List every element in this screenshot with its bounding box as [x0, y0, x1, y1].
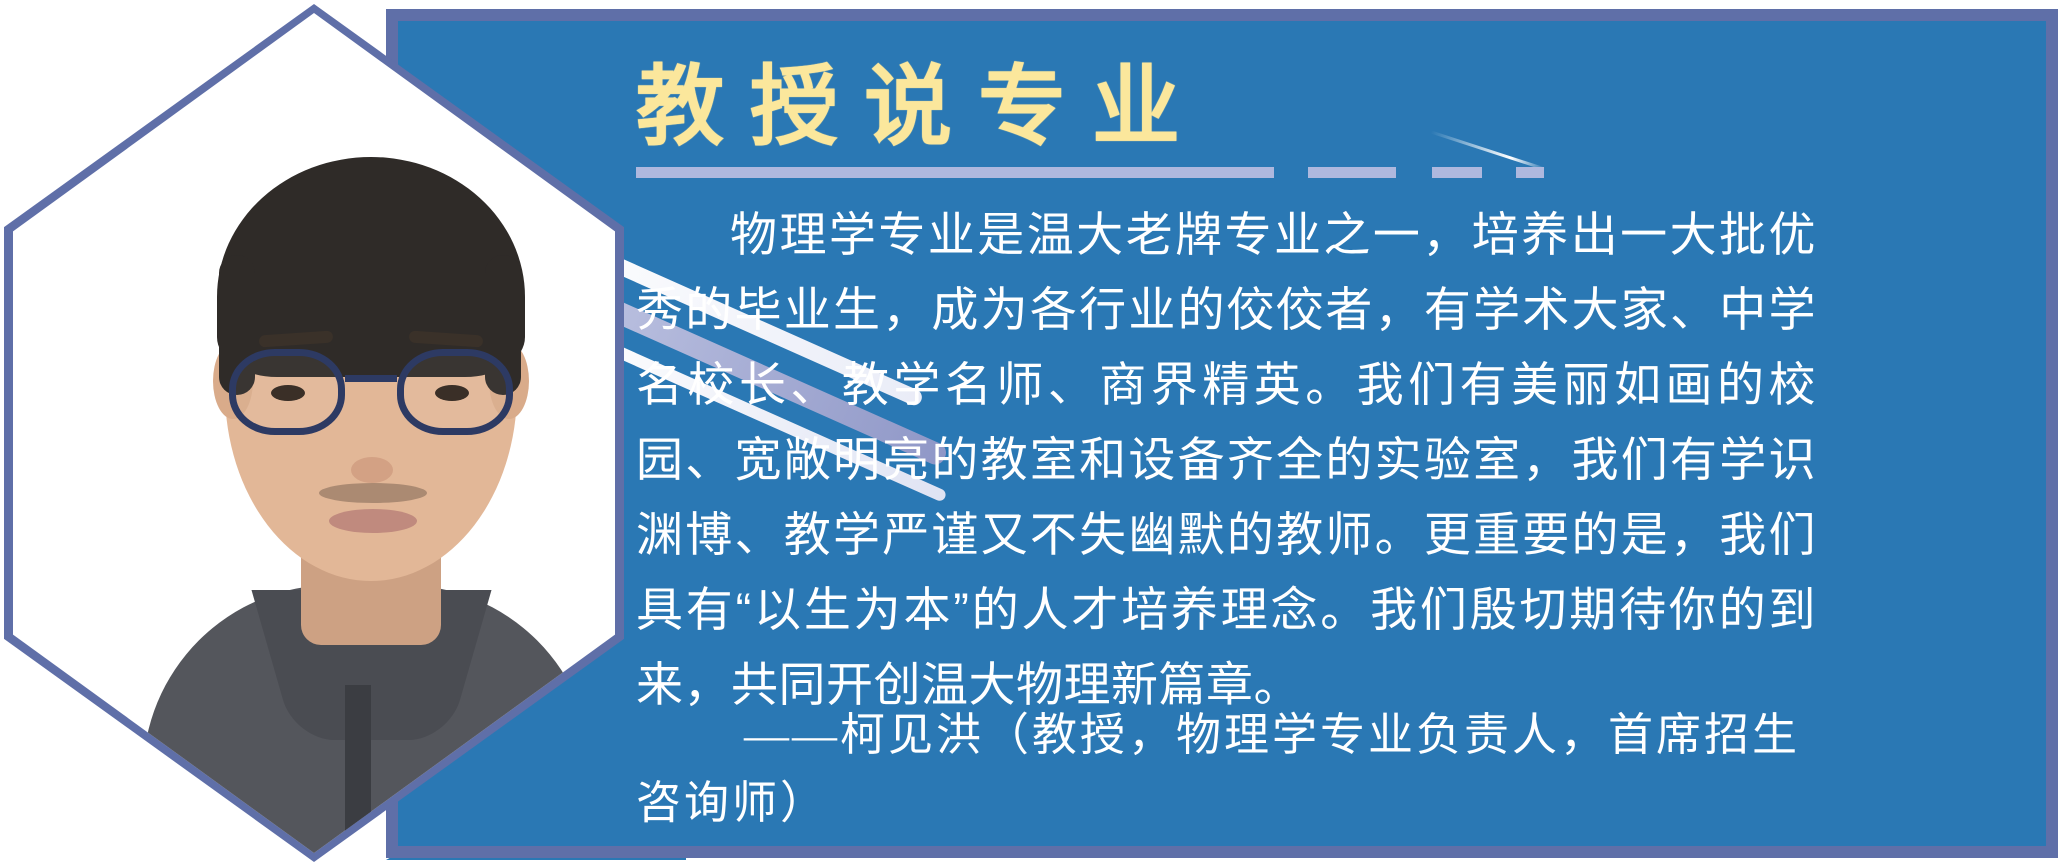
portrait-mouth — [329, 509, 417, 533]
body-copy: 物理学专业是温大老牌专业之一，培养出一大批优秀的毕业生，成为各行业的佼佼者，有学… — [636, 197, 1816, 722]
rule-dash-4 — [1516, 167, 1544, 178]
content-panel-inner: 教授说专业 物理学专业是温大老牌专业之一，培养出一大批优秀的毕业生，成为各行业的… — [398, 21, 2046, 846]
rule-dash-1 — [636, 167, 1274, 178]
rule-dash-2 — [1308, 167, 1396, 178]
attribution-block: ——柯见洪（教授，物理学专业负责人，首席招生咨询师） — [636, 701, 1816, 837]
portrait-photo — [133, 85, 603, 853]
glasses-lens-left — [229, 349, 345, 435]
glasses-bridge — [345, 375, 397, 382]
portrait-nose — [351, 457, 393, 483]
glasses-icon — [229, 349, 513, 445]
poster-root: 教授说专业 物理学专业是温大老牌专业之一，培养出一大批优秀的毕业生，成为各行业的… — [0, 0, 2067, 867]
portrait-hexagon — [4, 4, 624, 862]
rule-dash-3 — [1432, 167, 1482, 178]
hexagon-photo-area — [13, 13, 615, 853]
body-paragraph: 物理学专业是温大老牌专业之一，培养出一大批优秀的毕业生，成为各行业的佼佼者，有学… — [636, 197, 1816, 722]
glasses-lens-right — [397, 349, 513, 435]
title-dashed-rule — [636, 167, 1786, 178]
portrait-moustache — [319, 483, 427, 503]
page-title: 教授说专业 — [636, 63, 1816, 151]
content-panel: 教授说专业 物理学专业是温大老牌专业之一，培养出一大批优秀的毕业生，成为各行业的… — [386, 9, 2058, 858]
title-block: 教授说专业 — [636, 63, 1816, 178]
attribution-line: ——柯见洪（教授，物理学专业负责人，首席招生咨询师） — [636, 701, 1816, 837]
